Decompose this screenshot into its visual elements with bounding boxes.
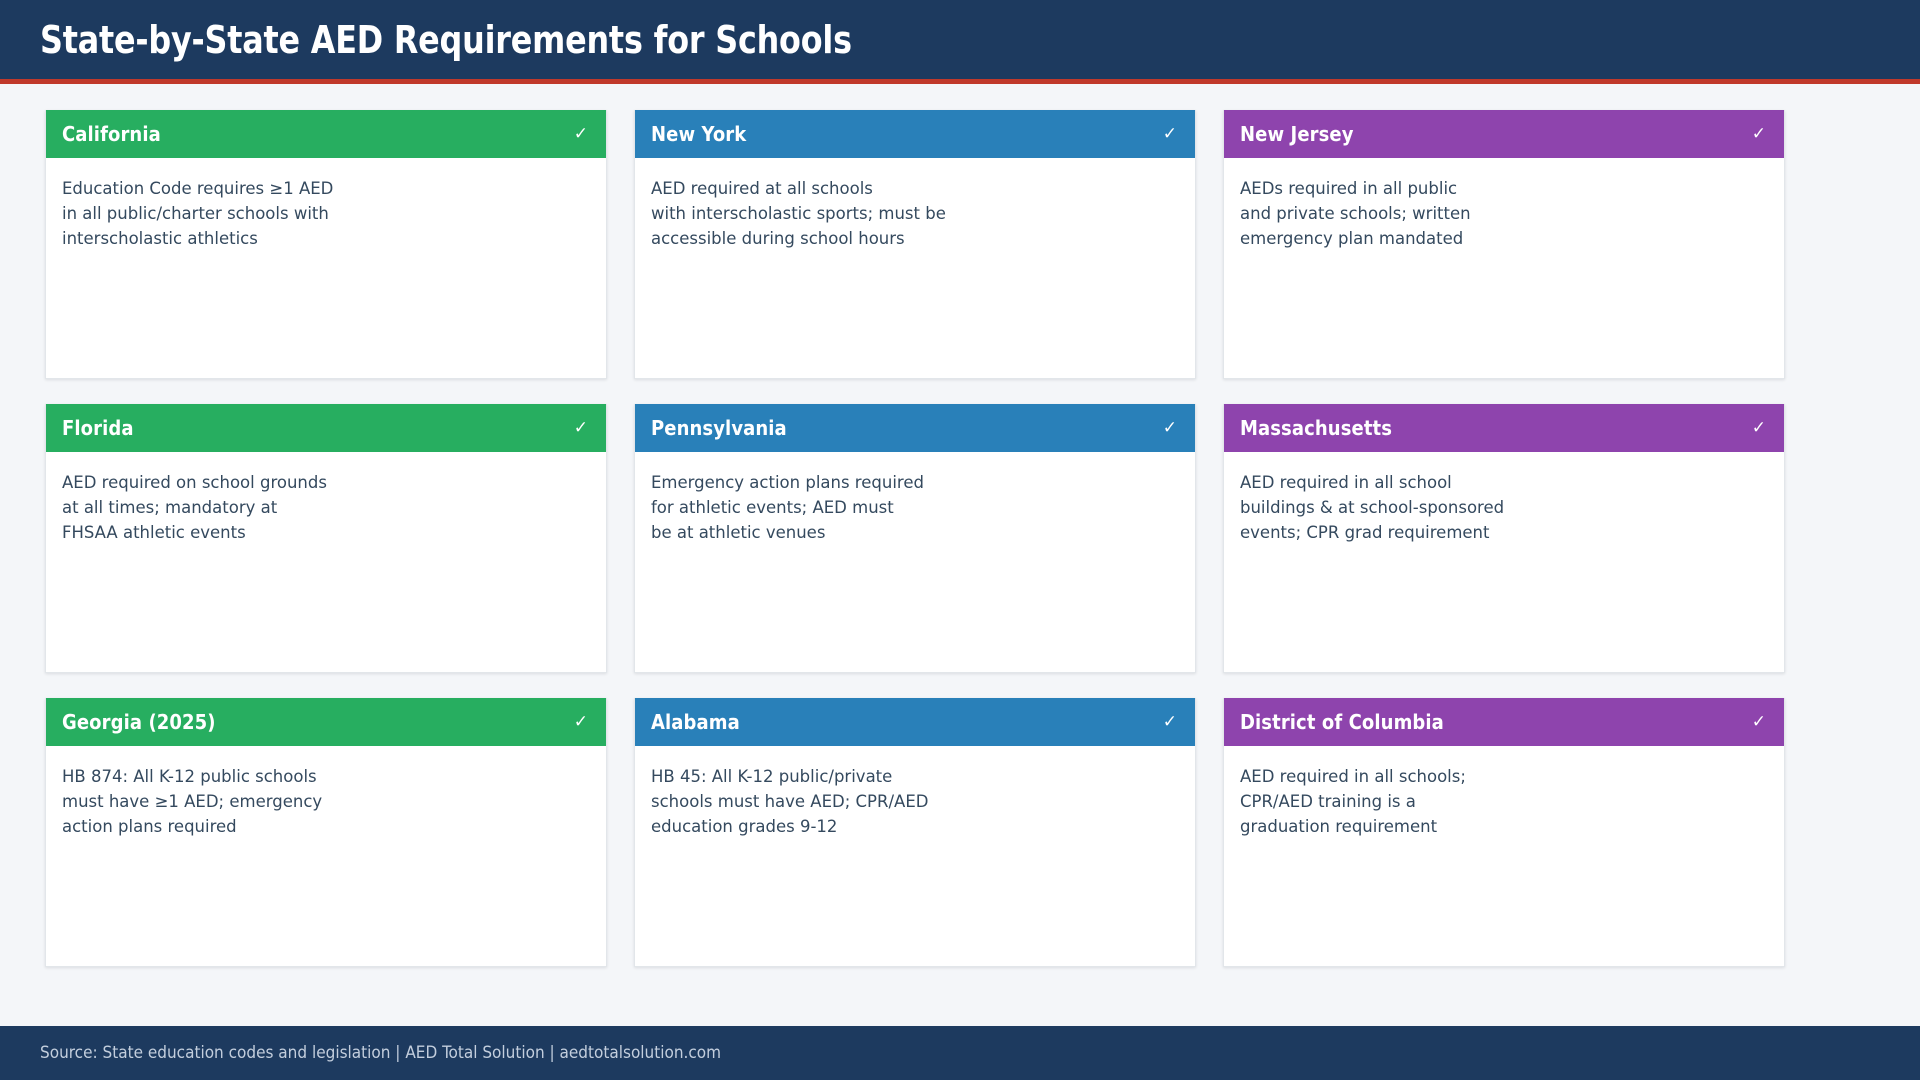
state-name-label: Pennsylvania: [651, 416, 787, 440]
state-requirement-line: accessible during school hours: [651, 226, 1179, 251]
state-requirement-line: buildings & at school-sponsored: [1240, 495, 1768, 520]
state-requirement-line: be at athletic venues: [651, 520, 1179, 545]
state-requirement-line: events; CPR grad requirement: [1240, 520, 1768, 545]
check-icon: ✓: [1163, 126, 1177, 143]
state-card-body: HB 45: All K-12 public/privateschools mu…: [635, 746, 1195, 966]
check-icon: ✓: [1752, 420, 1766, 437]
state-card[interactable]: New York✓AED required at all schoolswith…: [634, 110, 1196, 379]
state-name-label: Alabama: [651, 710, 740, 734]
state-card-body: AED required in all schoolbuildings & at…: [1224, 452, 1784, 672]
state-card-header: Georgia (2025)✓: [46, 698, 606, 746]
state-name-label: Georgia (2025): [62, 710, 216, 734]
state-card[interactable]: Pennsylvania✓Emergency action plans requ…: [634, 404, 1196, 673]
state-card[interactable]: Alabama✓HB 45: All K-12 public/privatesc…: [634, 698, 1196, 967]
state-requirement-line: for athletic events; AED must: [651, 495, 1179, 520]
state-requirement-line: FHSAA athletic events: [62, 520, 590, 545]
state-requirement-line: at all times; mandatory at: [62, 495, 590, 520]
check-icon: ✓: [1163, 714, 1177, 731]
state-requirement-line: Emergency action plans required: [651, 470, 1179, 495]
state-card-body: AEDs required in all publicand private s…: [1224, 158, 1784, 378]
state-requirement-line: HB 45: All K-12 public/private: [651, 764, 1179, 789]
state-name-label: District of Columbia: [1240, 710, 1444, 734]
state-requirement-line: must have ≥1 AED; emergency: [62, 789, 590, 814]
state-card[interactable]: Georgia (2025)✓HB 874: All K-12 public s…: [45, 698, 607, 967]
state-card-header: Alabama✓: [635, 698, 1195, 746]
state-requirement-line: education grades 9-12: [651, 814, 1179, 839]
check-icon: ✓: [1752, 714, 1766, 731]
state-requirement-line: AED required at all schools: [651, 176, 1179, 201]
state-card-body: AED required in all schools;CPR/AED trai…: [1224, 746, 1784, 966]
check-icon: ✓: [1163, 420, 1177, 437]
state-requirement-line: action plans required: [62, 814, 590, 839]
state-requirement-line: HB 874: All K-12 public schools: [62, 764, 590, 789]
state-name-label: California: [62, 122, 161, 146]
state-card-header: Pennsylvania✓: [635, 404, 1195, 452]
state-card-grid: California✓Education Code requires ≥1 AE…: [45, 110, 1785, 968]
state-card-body: AED required on school groundsat all tim…: [46, 452, 606, 672]
page-footer: Source: State education codes and legisl…: [0, 1026, 1920, 1080]
state-card[interactable]: California✓Education Code requires ≥1 AE…: [45, 110, 607, 379]
check-icon: ✓: [1752, 126, 1766, 143]
state-card-header: Florida✓: [46, 404, 606, 452]
state-requirement-line: Education Code requires ≥1 AED: [62, 176, 590, 201]
state-card-body: Emergency action plans requiredfor athle…: [635, 452, 1195, 672]
check-icon: ✓: [574, 420, 588, 437]
state-requirement-line: in all public/charter schools with: [62, 201, 590, 226]
state-card-body: AED required at all schoolswith intersch…: [635, 158, 1195, 378]
state-card-header: New Jersey✓: [1224, 110, 1784, 158]
state-requirement-line: graduation requirement: [1240, 814, 1768, 839]
state-requirement-line: and private schools; written: [1240, 201, 1768, 226]
state-requirement-line: AEDs required in all public: [1240, 176, 1768, 201]
state-requirement-line: CPR/AED training is a: [1240, 789, 1768, 814]
state-card-body: Education Code requires ≥1 AEDin all pub…: [46, 158, 606, 378]
state-name-label: Florida: [62, 416, 134, 440]
state-requirement-line: AED required on school grounds: [62, 470, 590, 495]
state-card-header: District of Columbia✓: [1224, 698, 1784, 746]
page-header: State-by-State AED Requirements for Scho…: [0, 0, 1920, 79]
state-card-header: California✓: [46, 110, 606, 158]
state-card[interactable]: Florida✓AED required on school groundsat…: [45, 404, 607, 673]
header-accent-bar: [0, 79, 1920, 84]
state-card[interactable]: New Jersey✓AEDs required in all publican…: [1223, 110, 1785, 379]
check-icon: ✓: [574, 714, 588, 731]
state-requirement-line: AED required in all school: [1240, 470, 1768, 495]
check-icon: ✓: [574, 126, 588, 143]
page-title: State-by-State AED Requirements for Scho…: [40, 18, 852, 62]
state-requirement-line: AED required in all schools;: [1240, 764, 1768, 789]
state-requirement-line: schools must have AED; CPR/AED: [651, 789, 1179, 814]
state-name-label: New York: [651, 122, 746, 146]
state-card-body: HB 874: All K-12 public schoolsmust have…: [46, 746, 606, 966]
state-card-header: Massachusetts✓: [1224, 404, 1784, 452]
state-requirement-line: with interscholastic sports; must be: [651, 201, 1179, 226]
state-requirement-line: emergency plan mandated: [1240, 226, 1768, 251]
state-name-label: Massachusetts: [1240, 416, 1392, 440]
state-card[interactable]: Massachusetts✓AED required in all school…: [1223, 404, 1785, 673]
state-requirement-line: interscholastic athletics: [62, 226, 590, 251]
state-card[interactable]: District of Columbia✓AED required in all…: [1223, 698, 1785, 967]
state-name-label: New Jersey: [1240, 122, 1354, 146]
footer-source-text: Source: State education codes and legisl…: [40, 1043, 721, 1063]
state-card-header: New York✓: [635, 110, 1195, 158]
